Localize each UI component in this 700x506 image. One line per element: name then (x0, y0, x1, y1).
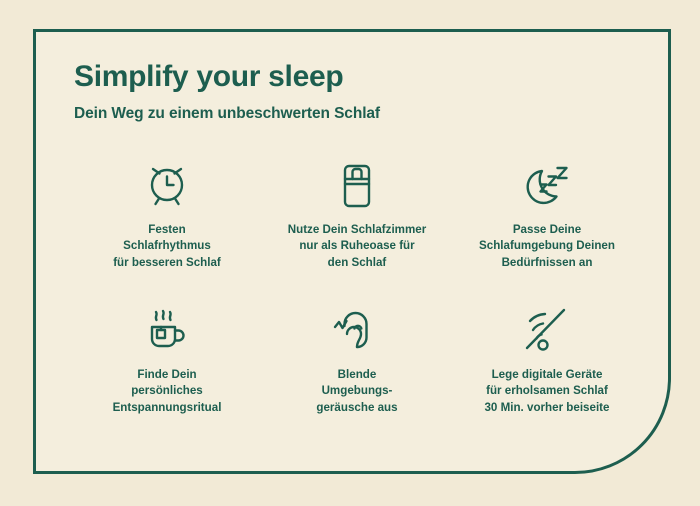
poster: Simplify your sleep Dein Weg zu einem un… (0, 0, 700, 506)
tip-label: Lege digitale Geräte für erholsamen Schl… (484, 367, 609, 416)
tip-label: Finde Dein persönliches Entspannungsritu… (113, 367, 222, 416)
tip-item-sleep-environment: Passe Deine Schlafumgebung Deinen Bedürf… (454, 154, 640, 271)
tip-item-relaxation-ritual: Finde Dein persönliches Entspannungsritu… (74, 299, 260, 416)
page-title: Simplify your sleep (74, 60, 640, 93)
moon-zzz-icon (521, 154, 573, 210)
ear-sound-icon (332, 299, 382, 355)
tip-item-block-noise: Blende Umgebungs- geräusche aus (264, 299, 450, 416)
poster-frame: Simplify your sleep Dein Weg zu einem un… (33, 29, 671, 474)
bed-icon (335, 154, 379, 210)
tip-item-sleep-rhythm: Festen Schlafrhythmus für besseren Schla… (74, 154, 260, 271)
tip-label: Festen Schlafrhythmus für besseren Schla… (113, 222, 221, 271)
tip-item-bedroom-use: Nutze Dein Schlafzimmer nur als Ruheoase… (264, 154, 450, 271)
poster-content: Simplify your sleep Dein Weg zu einem un… (36, 32, 674, 477)
page-subtitle: Dein Weg zu einem unbeschwerten Schlaf (74, 105, 640, 124)
tips-grid: Festen Schlafrhythmus für besseren Schla… (74, 154, 640, 417)
tip-item-digital-devices: Lege digitale Geräte für erholsamen Schl… (454, 299, 640, 416)
alarm-clock-icon (143, 154, 191, 210)
tip-label: Nutze Dein Schlafzimmer nur als Ruheoase… (288, 222, 427, 271)
wifi-off-icon (522, 299, 572, 355)
tip-label: Blende Umgebungs- geräusche aus (316, 367, 397, 416)
tip-label: Passe Deine Schlafumgebung Deinen Bedürf… (479, 222, 615, 271)
tea-cup-icon (141, 299, 193, 355)
